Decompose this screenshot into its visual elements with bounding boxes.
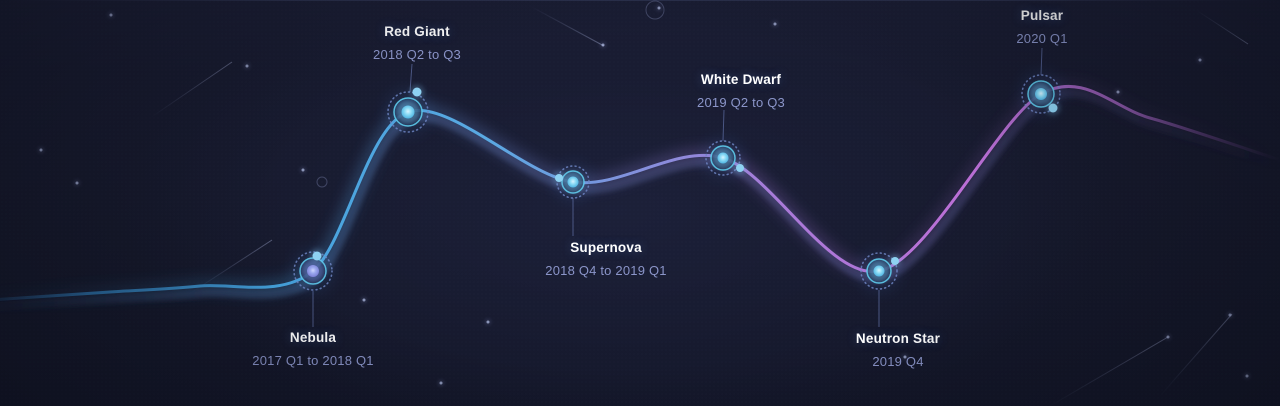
vignette-overlay — [0, 0, 1280, 406]
timeline-canvas: Nebula2017 Q1 to 2018 Q1Red Giant2018 Q2… — [0, 0, 1280, 406]
